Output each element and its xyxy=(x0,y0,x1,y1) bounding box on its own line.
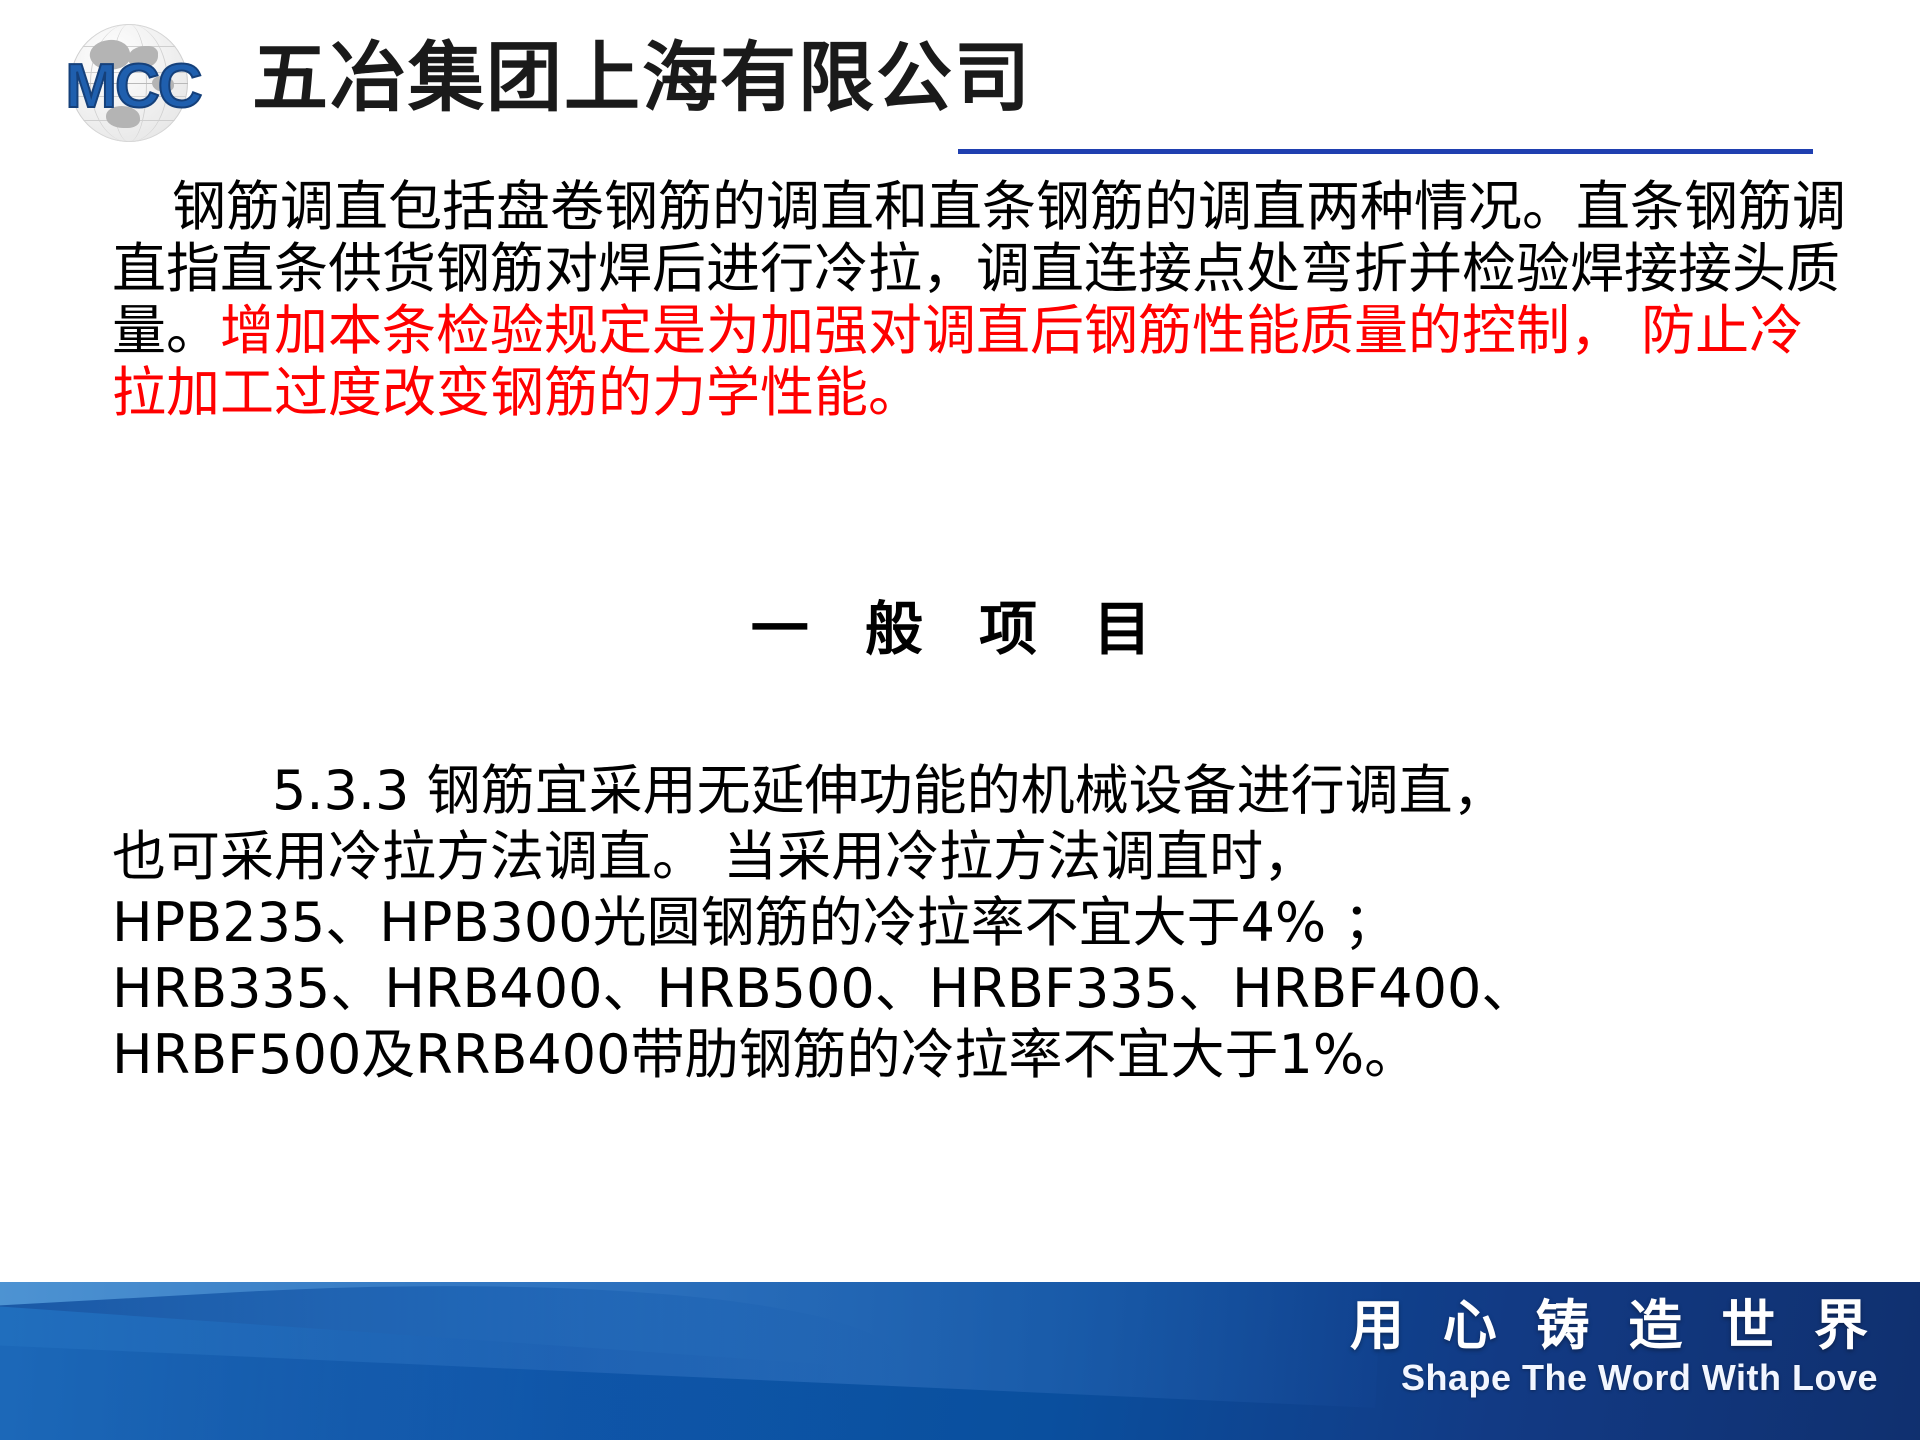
logo-wordmark: MCC xyxy=(18,56,248,118)
company-name: 五冶集团上海有限公司 xyxy=(252,40,1032,116)
slide-footer: 用 心 铸 造 世 界 Shape The Word With Love xyxy=(0,1282,1920,1440)
slide-canvas: MCC 五冶集团上海有限公司 钢筋调直包括盘卷钢筋的调直和直条钢筋的调直两种情况… xyxy=(0,0,1920,1440)
tagline-english: Shape The Word With Love xyxy=(1350,1358,1878,1398)
clause-line-4: HRB335、HRB400、HRB500、HRBF335、HRBF400、 xyxy=(112,956,1872,1022)
header-divider-line xyxy=(958,149,1813,154)
section-heading: 一 般 项 目 xyxy=(0,600,1920,658)
mcc-logo: MCC xyxy=(18,22,248,142)
body-copy: 钢筋调直包括盘卷钢筋的调直和直条钢筋的调直两种情况。直条钢筋调直指直条供货钢筋对… xyxy=(112,176,1852,424)
tagline-chinese: 用 心 铸 造 世 界 xyxy=(1350,1296,1878,1356)
paragraph-red-text: 增加本条检验规定是为加强对调直后钢筋性能质量的控制， 防止冷拉加工过度改变钢筋的… xyxy=(112,299,1803,424)
paragraph-intro: 钢筋调直包括盘卷钢筋的调直和直条钢筋的调直两种情况。直条钢筋调直指直条供货钢筋对… xyxy=(112,176,1852,424)
clause-line-1: 5.3.3 钢筋宜采用无延伸功能的机械设备进行调直， xyxy=(112,758,1872,824)
slide-header: MCC 五冶集团上海有限公司 xyxy=(0,0,1920,160)
footer-tagline: 用 心 铸 造 世 界 Shape The Word With Love xyxy=(1350,1296,1878,1398)
clause-block: 5.3.3 钢筋宜采用无延伸功能的机械设备进行调直， 也可采用冷拉方法调直。 当… xyxy=(112,758,1872,1088)
clause-line-1-text: 5.3.3 钢筋宜采用无延伸功能的机械设备进行调直， xyxy=(272,759,1507,822)
clause-line-3: HPB235、HPB300光圆钢筋的冷拉率不宜大于4% ； xyxy=(112,890,1872,956)
clause-line-5: HRBF500及RRB400带肋钢筋的冷拉率不宜大于1%。 xyxy=(112,1022,1872,1088)
clause-line-2: 也可采用冷拉方法调直。 当采用冷拉方法调直时， xyxy=(112,824,1872,890)
